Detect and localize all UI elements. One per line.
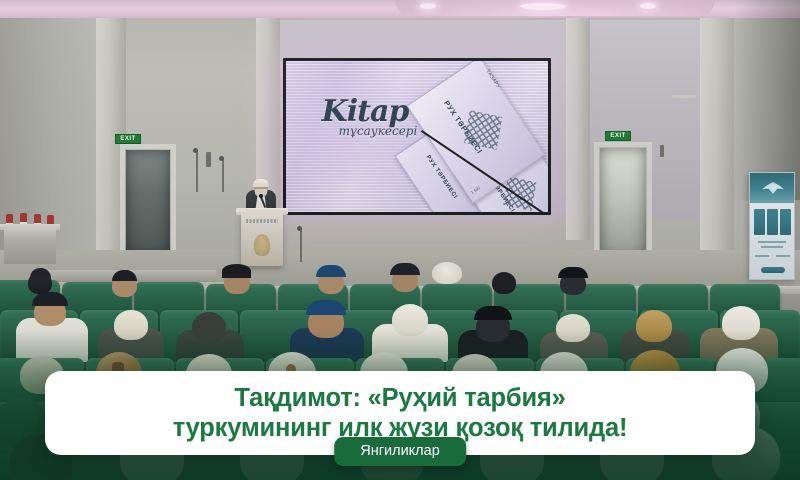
attendee-cap (306, 300, 346, 315)
category-badge[interactable]: Янгиликлар (334, 437, 466, 466)
table-item-red (20, 213, 27, 222)
attendee-cap (432, 262, 462, 284)
attendee-headscarf (114, 310, 148, 340)
exit-sign-icon: EXIT (115, 134, 141, 144)
right-doorway (600, 148, 646, 258)
headline-line-1: Тақдимот: «Руҳий тарбия» (234, 384, 565, 412)
table-item-red (34, 214, 41, 223)
attendee-headscarf (556, 314, 590, 342)
attendee-headscarf (392, 304, 428, 336)
book-price-tag: 1 500 (470, 185, 481, 195)
podium-emblem (254, 234, 270, 256)
wall-pilaster (700, 18, 734, 270)
led-screen: Kitap тұсаукесері РУХ ТӘРБИЕСІ 1 500 РУХ… (283, 58, 551, 215)
podium-microphone-head (259, 194, 263, 198)
news-card-image: EXIT EXIT Kitap тұсаукесері РУХ ТӘРБИЕСІ… (0, 0, 800, 480)
ceiling-lamp-icon (520, 3, 566, 10)
attendee-cap (32, 292, 68, 306)
led-screen-content: Kitap тұсаукесері РУХ ТӘРБИЕСІ 1 500 РУХ… (286, 61, 548, 212)
attendee-head (492, 272, 516, 294)
rollup-card (780, 209, 791, 235)
wall-speaker (206, 152, 211, 167)
ceiling-lamp-icon (420, 3, 436, 9)
wall-shadow (734, 0, 800, 200)
rollup-card (754, 209, 765, 235)
rollup-logo-icon (762, 182, 784, 194)
microphone-stand (196, 150, 198, 192)
attendee-hair (222, 264, 251, 278)
book-cover-subtitle: ТАЗАРУ (484, 69, 501, 90)
attendee-cap (30, 268, 51, 278)
table-item-red (47, 215, 54, 224)
table-item-red (6, 214, 13, 223)
attendee-cap (316, 265, 346, 277)
wall-speaker (660, 145, 664, 157)
ceiling-lamp-icon (640, 3, 656, 9)
rollup-banner-header (750, 173, 794, 203)
attendee-cap (112, 270, 137, 281)
microphone-icon (297, 226, 302, 231)
podium-inscription (246, 219, 278, 223)
attendee-cap (636, 310, 672, 342)
attendee-cap (722, 306, 760, 340)
speaker-cap (253, 179, 269, 187)
rollup-text-line (776, 255, 790, 257)
microphone-icon (219, 156, 224, 161)
attendee-cap (390, 263, 420, 275)
wall-rail (672, 95, 696, 98)
page-title: Тақдимот: «Руҳий тарбия» туркумининг илк… (147, 383, 654, 443)
microphone-stand (300, 228, 302, 262)
exit-sign-icon: EXIT (605, 131, 631, 141)
rollup-text-line (758, 241, 786, 243)
wall-pilaster (566, 18, 590, 240)
rollup-text-line (755, 255, 769, 257)
attendee-cap (558, 267, 588, 278)
rollup-card (767, 209, 778, 235)
rollup-text-line (761, 246, 783, 248)
left-doorway (126, 150, 170, 255)
attendee-cap (474, 306, 512, 320)
microphone-icon (193, 148, 198, 153)
attendee-head (192, 312, 226, 342)
microphone-stand (222, 158, 224, 192)
